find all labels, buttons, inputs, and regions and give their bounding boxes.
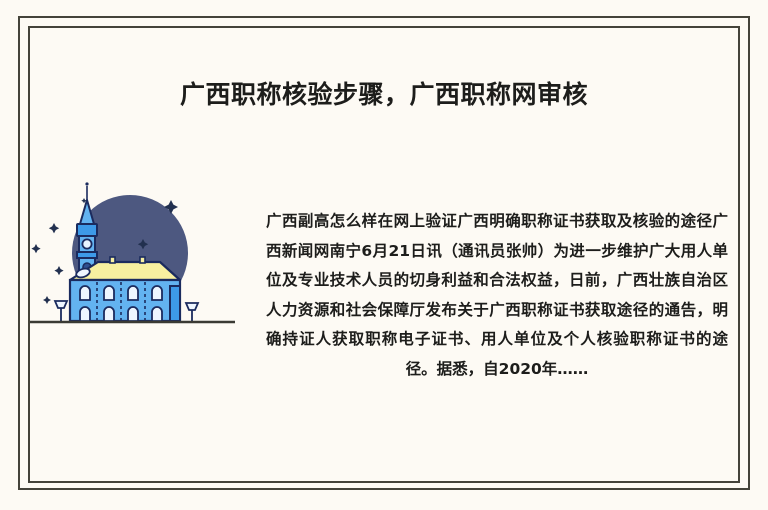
article-card: 广西职称核验步骤，广西职称网审核 [0,0,768,510]
clock-face [82,239,91,248]
article-body: 广西副高怎么样在网上验证广西明确职称证书获取及核验的途径广西新闻网南宁6月21日… [266,207,728,384]
cathedral-building-illustration [28,178,243,338]
spire [80,182,94,224]
street-lamp-left [55,301,67,322]
page-title: 广西职称核验步骤，广西职称网审核 [0,78,768,112]
street-lamp-right [186,303,198,322]
building-body [70,280,180,321]
